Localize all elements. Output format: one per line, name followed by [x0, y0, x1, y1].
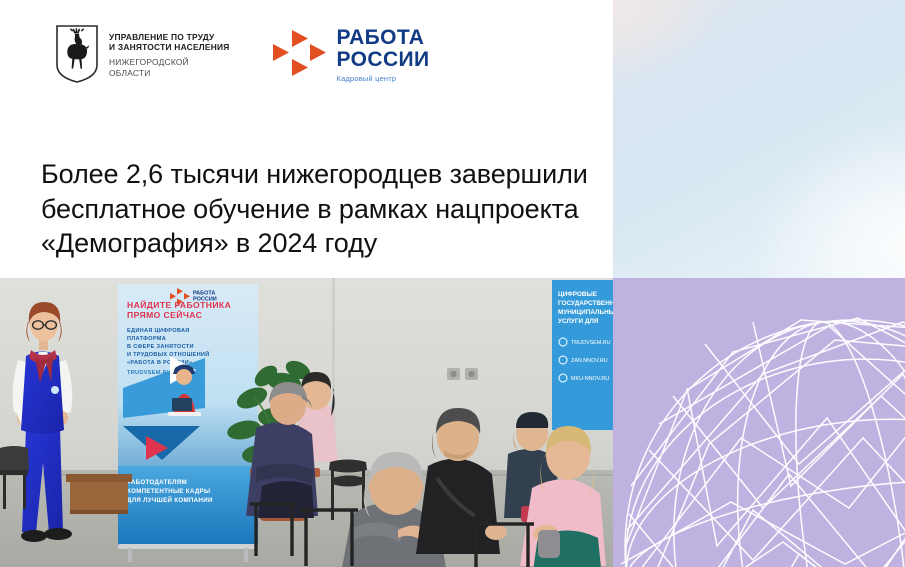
page-title: Более 2,6 тысячи нижегородцев завершили …	[41, 157, 601, 261]
svg-text:ПЛАТФОРМА: ПЛАТФОРМА	[127, 336, 166, 342]
content-panel: УПРАВЛЕНИЕ ПО ТРУДУ И ЗАНЯТОСТИ НАСЕЛЕНИ…	[0, 0, 613, 278]
svg-text:РАБОТОДАТЕЛЯМ: РАБОТОДАТЕЛЯМ	[127, 479, 187, 486]
decorative-sphere-panel	[613, 278, 905, 567]
svg-text:КОМПЕТЕНТНЫЕ КАДРЫ: КОМПЕТЕНТНЫЕ КАДРЫ	[127, 488, 210, 495]
rabota-rossii-text: РАБОТА РОССИИ Кадровый центр	[337, 27, 430, 82]
svg-text:ЕДИНАЯ ЦИФРОВАЯ: ЕДИНАЯ ЦИФРОВАЯ	[127, 328, 190, 334]
nizhny-novgorod-deer-crest-icon	[55, 24, 99, 84]
rr-subtitle: Кадровый центр	[337, 75, 430, 82]
svg-text:И ТРУДОВЫХ ОТНОШЕНИЙ: И ТРУДОВЫХ ОТНОШЕНИЙ	[127, 350, 210, 358]
slide-canvas: УПРАВЛЕНИЕ ПО ТРУДУ И ЗАНЯТОСТИ НАСЕЛЕНИ…	[0, 0, 905, 567]
svg-text:В СФЕРЕ ЗАНЯТОСТИ: В СФЕРЕ ЗАНЯТОСТИ	[127, 344, 194, 350]
svg-text:TRUDVSEM.RU: TRUDVSEM.RU	[571, 340, 611, 346]
training-session-photograph: РАБОТА РОССИИ НАЙДИТЕ РАБОТНИКА ПРЯМО СЕ…	[0, 278, 613, 567]
rabota-rossii-logo: РАБОТА РОССИИ Кадровый центр	[272, 24, 430, 82]
wireframe-globe-icon	[613, 278, 905, 567]
svg-text:РАБОТА: РАБОТА	[193, 291, 215, 297]
wooden-table	[66, 474, 132, 514]
svg-text:ЦИФРОВЫЕ: ЦИФРОВЫЕ	[558, 291, 598, 298]
svg-text:МУНИЦИПАЛЬНЫЕ: МУНИЦИПАЛЬНЫЕ	[558, 309, 613, 316]
svg-text:НАЙДИТЕ РАБОТНИКА: НАЙДИТЕ РАБОТНИКА	[127, 299, 231, 310]
gov-line-3: НИЖЕГОРОДСКОЙ	[109, 57, 230, 68]
svg-text:ДЛЯ ЛУЧШЕЙ КОМПАНИИ: ДЛЯ ЛУЧШЕЙ КОМПАНИИ	[127, 496, 213, 504]
rollup-banner-right: ЦИФРОВЫЕ ГОСУДАРСТВЕННЫЕ МУНИЦИПАЛЬНЫЕ У…	[552, 280, 613, 430]
logo-bar: УПРАВЛЕНИЕ ПО ТРУДУ И ЗАНЯТОСТИ НАСЕЛЕНИ…	[55, 24, 430, 84]
svg-text:ПРЯМО СЕЙЧАС: ПРЯМО СЕЙЧАС	[127, 309, 202, 320]
svg-text:УСЛУГИ ДЛЯ: УСЛУГИ ДЛЯ	[558, 318, 599, 325]
decorative-gradient-panel	[613, 0, 905, 278]
svg-text:MKU-NNOV.RU: MKU-NNOV.RU	[571, 376, 609, 382]
gov-line-1: УПРАВЛЕНИЕ ПО ТРУДУ	[109, 32, 230, 43]
svg-text:ГОСУДАРСТВЕННЫЕ: ГОСУДАРСТВЕННЫЕ	[558, 300, 613, 307]
gov-line-4: ОБЛАСТИ	[109, 68, 230, 79]
rr-line-2: РОССИИ	[337, 49, 430, 71]
rabota-rossii-triangles-icon	[272, 29, 328, 81]
government-logo: УПРАВЛЕНИЕ ПО ТРУДУ И ЗАНЯТОСТИ НАСЕЛЕНИ…	[55, 24, 230, 84]
rr-line-1: РАБОТА	[337, 27, 430, 49]
gov-line-2: И ЗАНЯТОСТИ НАСЕЛЕНИЯ	[109, 42, 230, 53]
government-logo-text: УПРАВЛЕНИЕ ПО ТРУДУ И ЗАНЯТОСТИ НАСЕЛЕНИ…	[109, 30, 230, 78]
svg-text:ZAN.NNOV.RU: ZAN.NNOV.RU	[571, 358, 608, 364]
